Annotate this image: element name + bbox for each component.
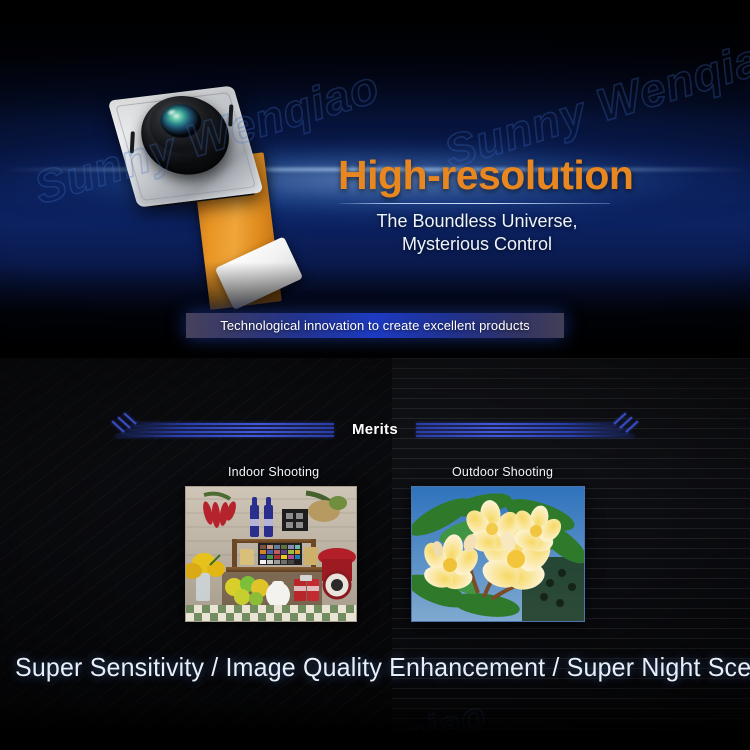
decoration-lines-left <box>114 416 336 442</box>
indoor-sample-photo <box>185 486 357 622</box>
hero-bottom-fade <box>0 262 750 358</box>
footer-features: Super Sensitivity / Image Quality Enhanc… <box>15 652 735 683</box>
outdoor-scene-illustration <box>412 487 584 621</box>
hero-section: High-resolution The Boundless Universe, … <box>0 0 750 358</box>
tagline-bar: Technological innovation to create excel… <box>186 313 564 338</box>
merits-header: Merits <box>0 414 750 444</box>
decoration-lines-right <box>414 416 636 442</box>
outdoor-sample-photo <box>411 486 585 622</box>
sample-caption-indoor: Indoor Shooting <box>228 465 319 479</box>
bottom-fade <box>0 700 750 750</box>
sample-caption-outdoor: Outdoor Shooting <box>452 465 553 479</box>
indoor-scene-illustration <box>186 487 356 621</box>
merits-title: Merits <box>336 421 414 438</box>
product-banner: High-resolution The Boundless Universe, … <box>0 0 750 750</box>
tagline-text: Technological innovation to create excel… <box>220 318 530 333</box>
